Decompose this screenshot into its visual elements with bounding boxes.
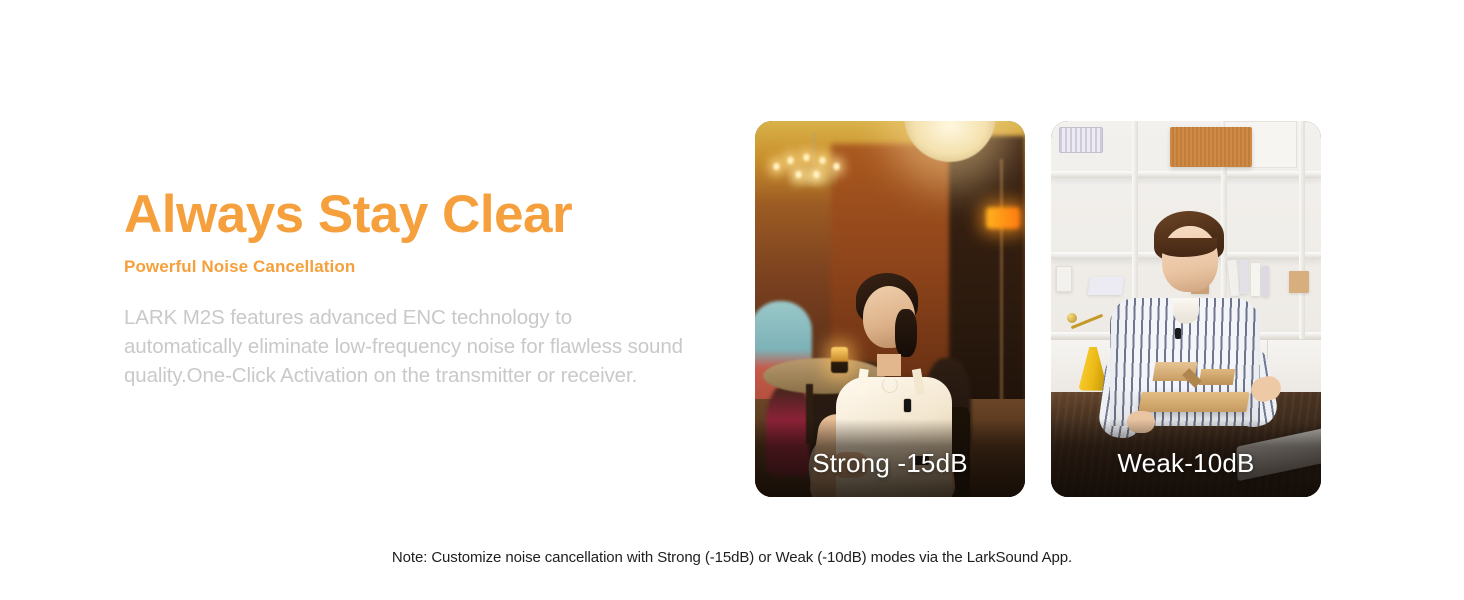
shelf-wood-box-icon <box>1170 127 1252 167</box>
table-candle-icon <box>831 347 848 373</box>
footnote: Note: Customize noise cancellation with … <box>0 549 1464 566</box>
wooden-model-icon <box>1139 392 1250 412</box>
clip-microphone-icon <box>1175 328 1181 339</box>
subtitle: Powerful Noise Cancellation <box>124 257 684 277</box>
chandelier-icon <box>771 147 855 207</box>
promo-banner: Always Stay Clear Powerful Noise Cancell… <box>0 0 1464 600</box>
comparison-cards: Strong -15dB <box>755 121 1324 497</box>
card-strong[interactable]: Strong -15dB <box>755 121 1025 497</box>
clip-microphone-icon <box>904 399 911 412</box>
description-text: LARK M2S features advanced ENC technolog… <box>124 303 684 390</box>
card-caption: Weak-10dB <box>1051 448 1321 479</box>
neon-sign-icon <box>986 207 1020 229</box>
card-weak[interactable]: Weak-10dB <box>1051 121 1321 497</box>
shelf-basket-icon <box>1059 127 1103 153</box>
copy-block: Always Stay Clear Powerful Noise Cancell… <box>124 186 684 391</box>
card-caption: Strong -15dB <box>755 448 1025 479</box>
page-title: Always Stay Clear <box>124 186 684 243</box>
